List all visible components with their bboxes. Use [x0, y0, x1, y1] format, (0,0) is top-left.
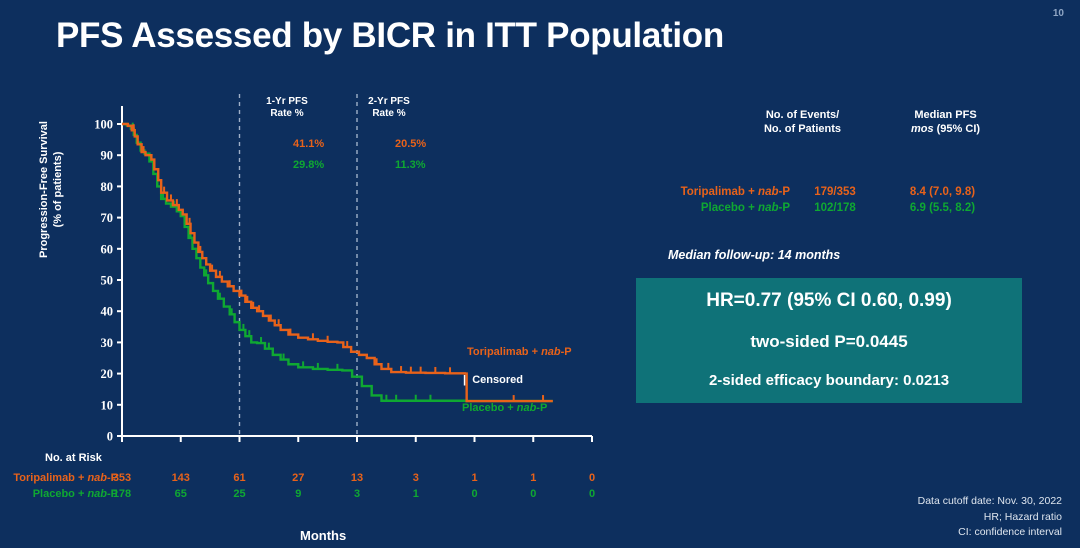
- x-tick-label: 42: [527, 446, 540, 448]
- at-risk-value: 65: [161, 488, 201, 500]
- at-risk-row: Placebo + nab-P1786525931000: [0, 488, 630, 503]
- stats-header-events-line2: No. of Patients: [764, 123, 841, 135]
- at-risk-value: 13: [337, 472, 377, 484]
- y-tick-label: 30: [101, 336, 114, 350]
- at-risk-value: 143: [161, 472, 201, 484]
- at-risk-value: 3: [396, 472, 436, 484]
- y-tick-label: 60: [101, 242, 114, 256]
- y-tick-label: 90: [101, 149, 114, 163]
- y-axis-title-line2: (% of patients): [52, 152, 64, 228]
- x-tick-label: 0: [119, 446, 126, 448]
- footnote-line: HR; Hazard ratio: [918, 510, 1062, 525]
- at-risk-value: 9: [278, 488, 318, 500]
- x-tick-label: 12: [233, 446, 246, 448]
- x-tick-label: 18: [292, 446, 306, 448]
- rate-header-1yr-line1: 1-Yr PFS: [266, 96, 308, 107]
- at-risk-title: No. at Risk: [45, 452, 102, 464]
- y-tick-label: 40: [101, 305, 114, 319]
- rate-header-1yr: 1-Yr PFS Rate %: [250, 96, 324, 120]
- curve-label-placebo: Placebo + nab-P: [462, 402, 547, 414]
- censored-legend: | Censored: [463, 374, 523, 386]
- at-risk-value: 3: [337, 488, 377, 500]
- x-tick-label: 36: [468, 446, 482, 448]
- stats-row-events: 102/178: [800, 202, 870, 214]
- at-risk-value: 353: [102, 472, 142, 484]
- rate-value-tori-2yr: 20.5%: [395, 138, 426, 150]
- stats-header-events-line1: No. of Events/: [766, 109, 839, 121]
- rate-value-tori-1yr: 41.1%: [293, 138, 324, 150]
- rate-header-2yr: 2-Yr PFS Rate %: [352, 96, 426, 120]
- y-axis-title: Progression-Free Survival (% of patients…: [38, 121, 66, 258]
- rate-header-2yr-line1: 2-Yr PFS: [368, 96, 410, 107]
- stats-header-events: No. of Events/ No. of Patients: [745, 108, 860, 137]
- y-tick-label: 80: [101, 180, 114, 194]
- stats-header-median-line1: Median PFS: [914, 109, 976, 121]
- x-tick-label: 24: [351, 446, 365, 448]
- stats-header-median-line2: mos (95% CI): [911, 123, 980, 135]
- footnotes: Data cutoff date: Nov. 30, 2022HR; Hazar…: [918, 494, 1062, 540]
- rate-header-1yr-line2: Rate %: [270, 108, 303, 119]
- x-tick-label: 6: [178, 446, 185, 448]
- hr-line: HR=0.77 (95% CI 0.60, 0.99): [636, 290, 1022, 312]
- y-tick-label: 0: [107, 430, 113, 444]
- y-axis-title-line1: Progression-Free Survival: [38, 121, 50, 258]
- at-risk-value: 1: [513, 472, 553, 484]
- at-risk-row-label: Placebo + nab-P: [0, 488, 118, 500]
- footnote-line: Data cutoff date: Nov. 30, 2022: [918, 494, 1062, 509]
- y-tick-label: 20: [101, 367, 114, 381]
- y-tick-label: 100: [94, 118, 113, 132]
- km-curve-placebo: [122, 124, 553, 401]
- at-risk-value: 61: [220, 472, 260, 484]
- slide-canvas: 10 PFS Assessed by BICR in ITT Populatio…: [0, 0, 1080, 548]
- p-value-line: two-sided P=0.0445: [636, 332, 1022, 352]
- stats-row-label: Placebo + nab-P: [655, 202, 790, 214]
- efficacy-boundary-line: 2-sided efficacy boundary: 0.0213: [636, 372, 1022, 389]
- page-title: PFS Assessed by BICR in ITT Population: [56, 16, 724, 56]
- at-risk-value: 0: [572, 472, 612, 484]
- at-risk-value: 178: [102, 488, 142, 500]
- footnote-line: CI: confidence interval: [918, 525, 1062, 540]
- y-tick-label: 10: [101, 398, 114, 412]
- median-followup: Median follow-up: 14 months: [668, 248, 840, 262]
- stats-row-label: Toripalimab + nab-P: [655, 186, 790, 198]
- x-tick-label: 30: [409, 446, 422, 448]
- at-risk-row-label: Toripalimab + nab-P: [0, 472, 118, 484]
- x-tick-label: 48: [586, 446, 600, 448]
- at-risk-value: 25: [220, 488, 260, 500]
- rate-value-placebo-2yr: 11.3%: [395, 159, 426, 171]
- km-chart: 01020304050607080901000612182430364248 P…: [0, 88, 630, 448]
- at-risk-value: 0: [455, 488, 495, 500]
- rate-header-2yr-line2: Rate %: [372, 108, 405, 119]
- curve-label-toripalimab: Toripalimab + nab-P: [467, 346, 572, 358]
- stats-header-median: Median PFS mos (95% CI): [888, 108, 1003, 137]
- rate-value-placebo-1yr: 29.8%: [293, 159, 324, 171]
- hazard-ratio-box: HR=0.77 (95% CI 0.60, 0.99) two-sided P=…: [636, 278, 1022, 403]
- at-risk-value: 0: [572, 488, 612, 500]
- stats-row-median: 8.4 (7.0, 9.8): [890, 186, 995, 198]
- at-risk-value: 1: [455, 472, 495, 484]
- at-risk-value: 27: [278, 472, 318, 484]
- at-risk-value: 1: [396, 488, 436, 500]
- km-curve-toripalimab: [122, 124, 553, 401]
- y-tick-label: 50: [101, 274, 114, 288]
- at-risk-value: 0: [513, 488, 553, 500]
- at-risk-table: No. at Risk Toripalimab + nab-P353143612…: [0, 452, 630, 512]
- x-axis-title: Months: [300, 528, 346, 543]
- at-risk-row: Toripalimab + nab-P3531436127133110: [0, 472, 630, 487]
- stats-row-events: 179/353: [800, 186, 870, 198]
- censored-legend-label: Censored: [472, 374, 523, 386]
- y-tick-label: 70: [101, 211, 114, 225]
- slide-number: 10: [1053, 8, 1064, 19]
- stats-row-median: 6.9 (5.5, 8.2): [890, 202, 995, 214]
